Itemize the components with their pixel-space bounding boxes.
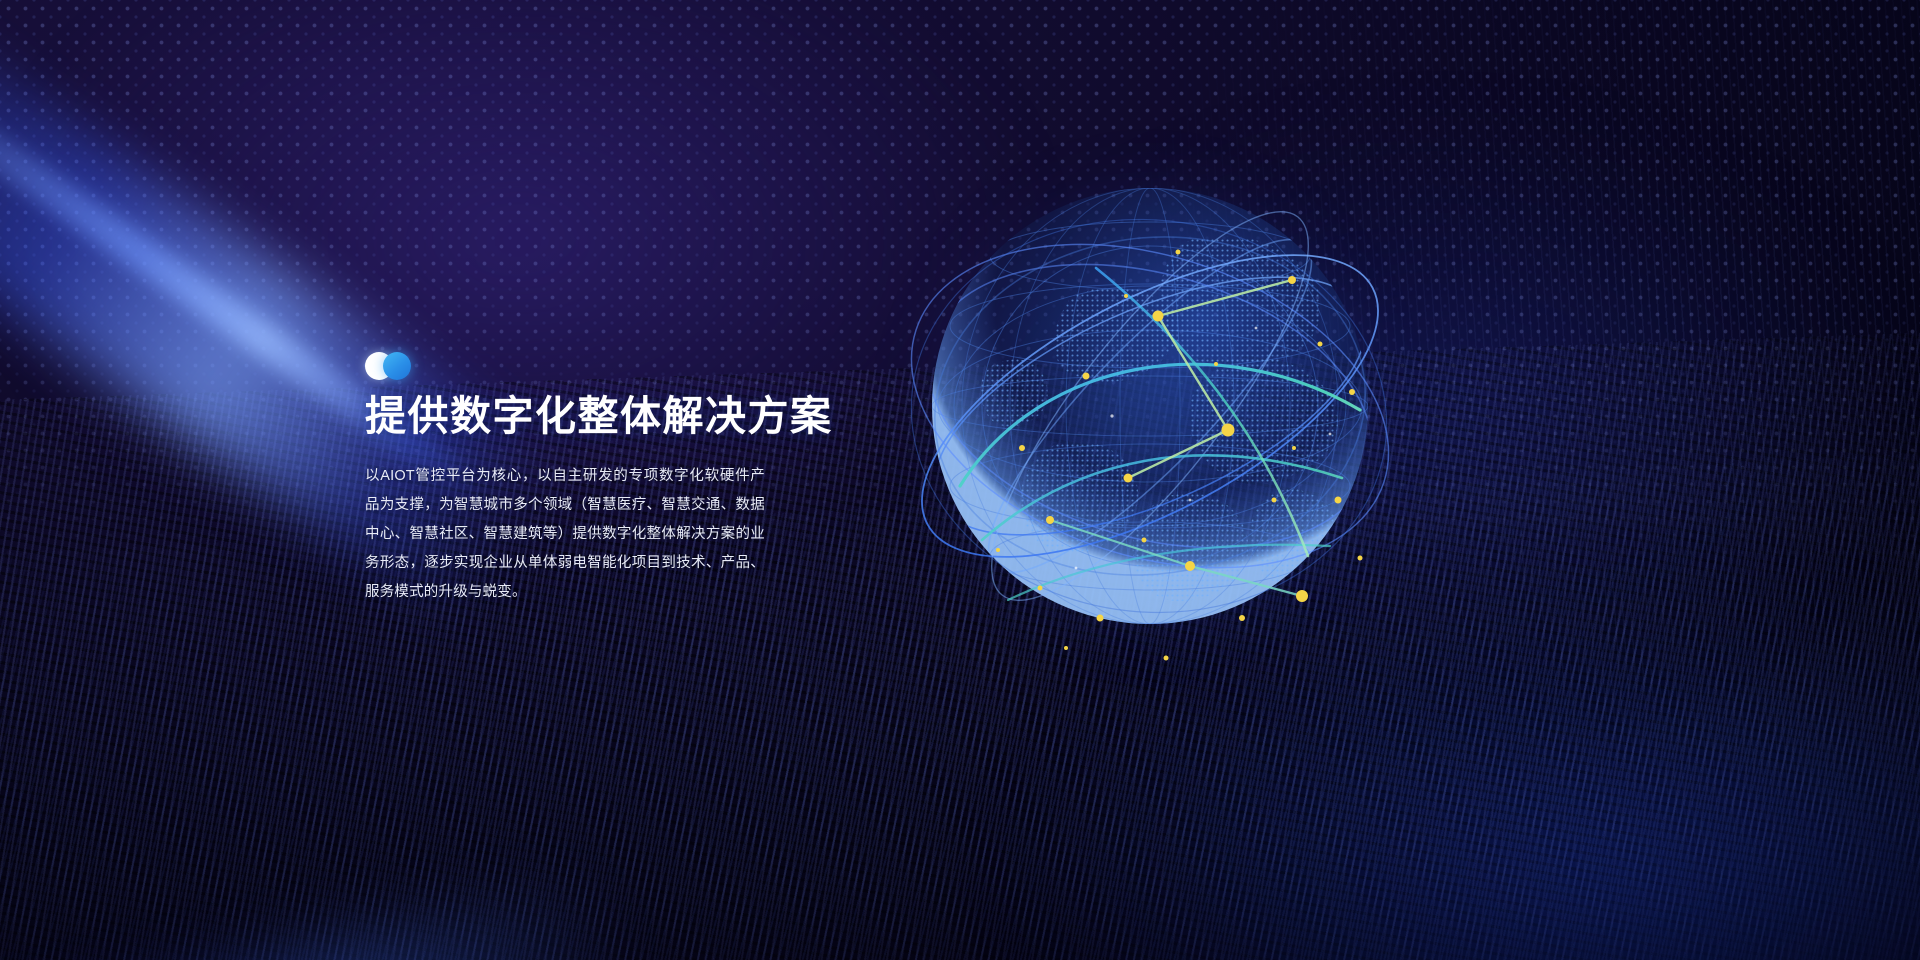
page-title: 提供数字化整体解决方案 xyxy=(365,394,785,440)
globe-icon xyxy=(890,148,1410,668)
brand-logo-mark xyxy=(365,352,421,380)
globe-graphic xyxy=(890,148,1410,668)
hero-banner: 提供数字化整体解决方案 以AIOT管控平台为核心，以自主研发的专项数字化软硬件产… xyxy=(0,0,1920,960)
hero-text-block: 提供数字化整体解决方案 以AIOT管控平台为核心，以自主研发的专项数字化软硬件产… xyxy=(365,352,785,607)
logo-blue-circle-icon xyxy=(383,352,411,380)
hero-description: 以AIOT管控平台为核心，以自主研发的专项数字化软硬件产品为支撑，为智慧城市多个… xyxy=(365,462,765,607)
